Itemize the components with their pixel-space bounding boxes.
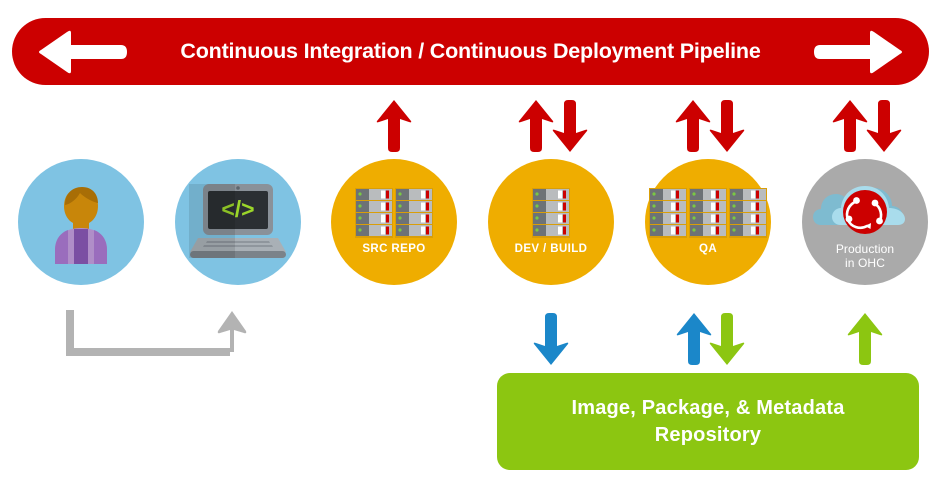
node-label-dev-build: DEV / BUILD [515, 243, 588, 256]
node-label-production: Production in OHC [836, 242, 894, 270]
node-label-src-repo: SRC REPO [362, 243, 425, 256]
node-laptop[interactable]: </> [175, 159, 301, 285]
arrow-right-icon [812, 29, 904, 75]
server-rack-icon [532, 188, 570, 238]
repository-box[interactable]: Image, Package, & Metadata Repository [497, 373, 919, 470]
arrow-down-icon-dev-build-repo [533, 313, 569, 370]
diagram-canvas: Continuous Integration / Continuous Depl… [0, 0, 941, 500]
arrow-down-icon-production [866, 100, 902, 157]
arrow-up-icon-repo-production [847, 313, 883, 370]
arrow-down-icon-repo-qa [709, 313, 745, 370]
arrow-up-icon-src-repo [376, 100, 412, 157]
connector-developer-to-laptop [60, 306, 260, 361]
person-icon [35, 176, 127, 268]
node-developer[interactable] [18, 159, 144, 285]
cloud-openshift-icon [813, 175, 917, 237]
arrow-left-icon [37, 29, 129, 75]
laptop-code-icon: </> [189, 182, 287, 262]
arrow-up-icon-production [832, 100, 868, 157]
node-src-repo[interactable]: SRC REPO [331, 159, 457, 285]
arrow-up-icon [218, 311, 247, 352]
node-qa[interactable]: QA [645, 159, 771, 285]
repository-label: Image, Package, & Metadata Repository [571, 395, 844, 449]
pipeline-banner: Continuous Integration / Continuous Depl… [12, 18, 929, 85]
page-title: Continuous Integration / Continuous Depl… [180, 39, 760, 64]
arrow-up-icon-qa [675, 100, 711, 157]
arrow-up-icon-qa-repo [676, 313, 712, 370]
arrow-down-icon-dev-build [552, 100, 588, 157]
node-dev-build[interactable]: DEV / BUILD [488, 159, 614, 285]
node-production[interactable]: Production in OHC [802, 159, 928, 285]
server-rack-icon [355, 188, 433, 238]
arrow-down-icon-qa [709, 100, 745, 157]
node-label-qa: QA [699, 243, 717, 256]
server-rack-icon [649, 188, 767, 238]
arrow-up-icon-dev-build [518, 100, 554, 157]
